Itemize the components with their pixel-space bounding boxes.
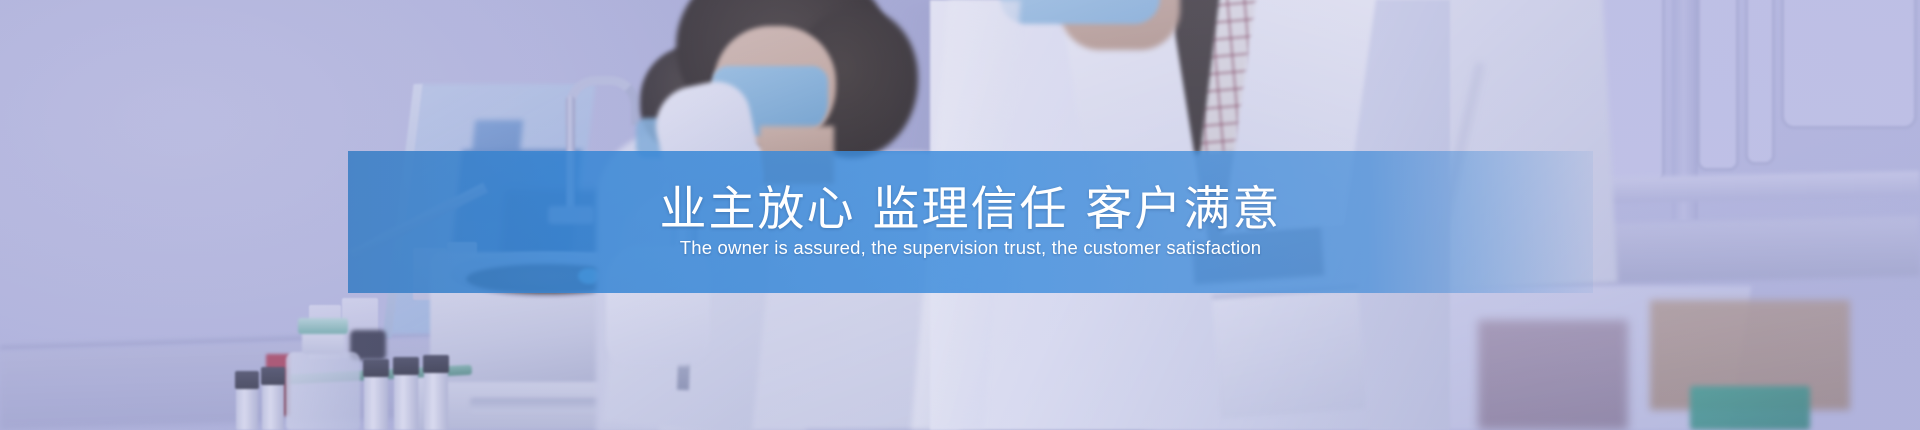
- hero-banner: 业主放心 监理信任 客户满意 The owner is assured, the…: [0, 0, 1920, 430]
- banner-subheadline: The owner is assured, the supervision tr…: [680, 237, 1262, 259]
- headline-band: 业主放心 监理信任 客户满意 The owner is assured, the…: [348, 151, 1593, 293]
- banner-headline: 业主放心 监理信任 客户满意: [660, 185, 1282, 236]
